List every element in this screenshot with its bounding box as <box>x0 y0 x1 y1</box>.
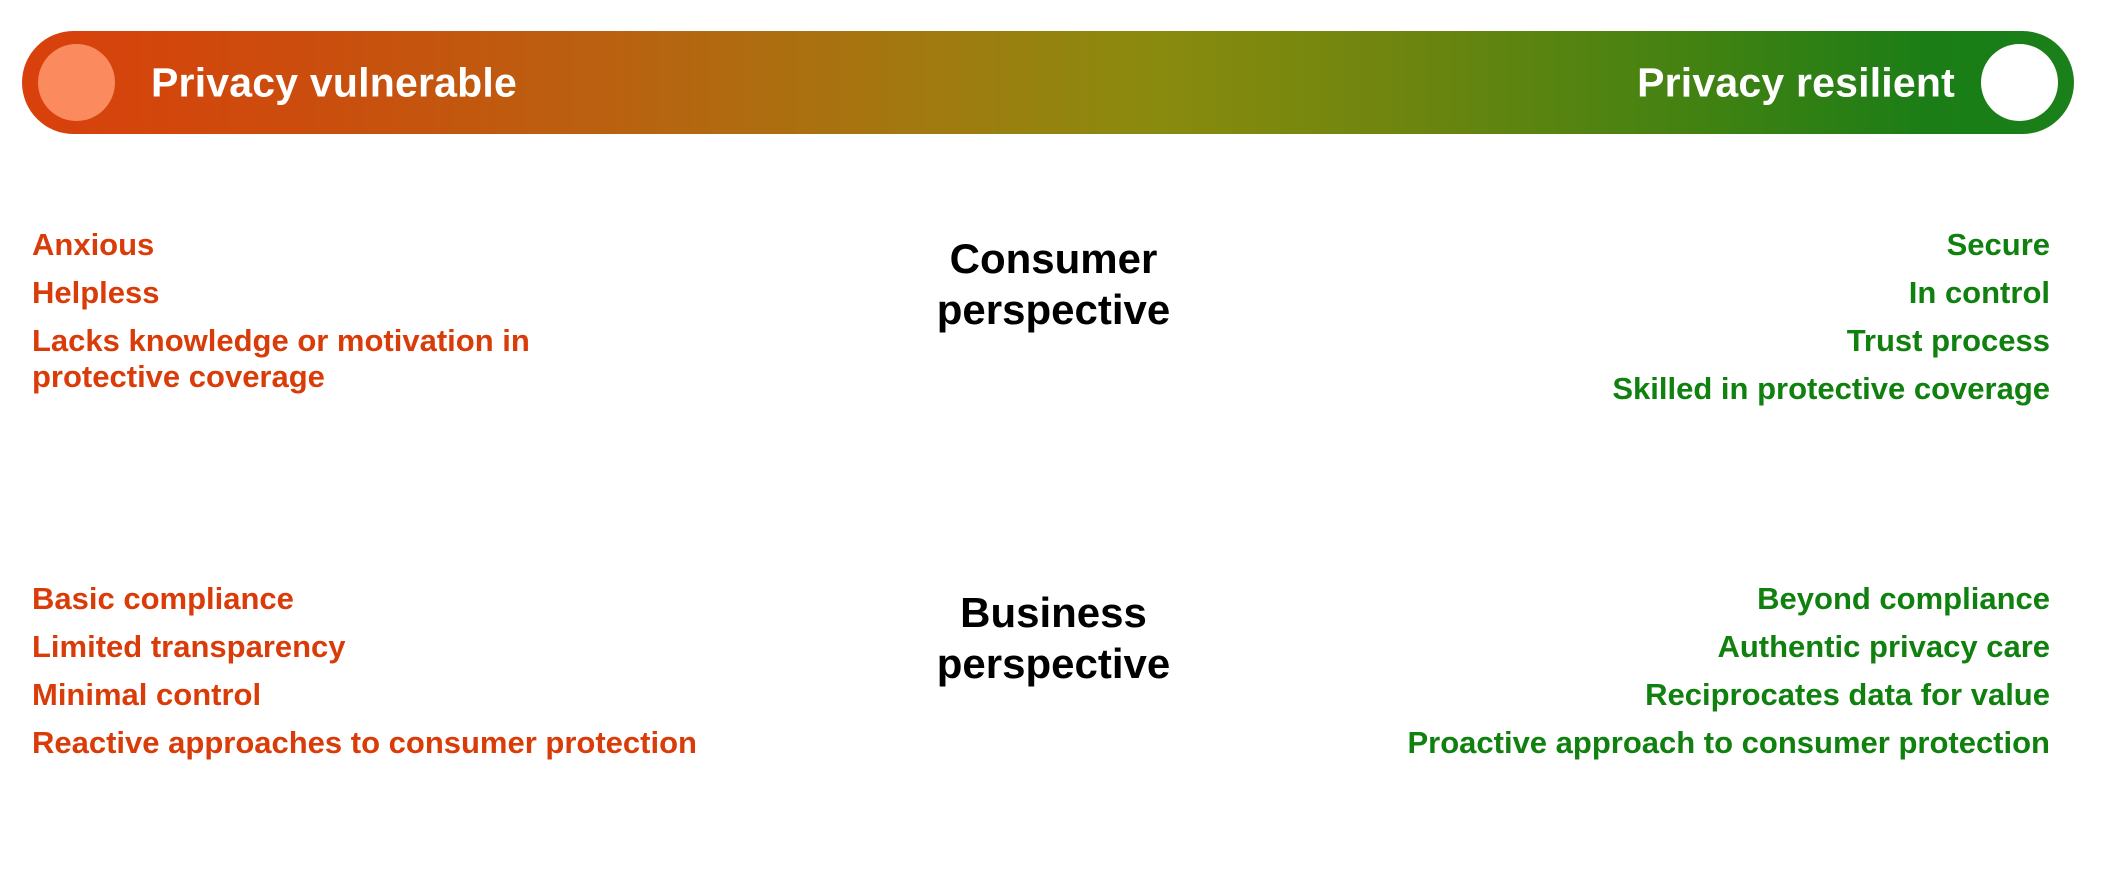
spectrum-label-resilient: Privacy resilient <box>1637 62 1955 103</box>
business-resilient-traits: Beyond compliance Authentic privacy care… <box>1190 592 2050 822</box>
spectrum-knob-vulnerable-icon[interactable] <box>38 44 115 121</box>
consumer-vulnerable-traits: Anxious Helpless Lacks knowledge or moti… <box>32 238 892 468</box>
trait-item: In control <box>1909 275 2050 311</box>
spectrum-knob-resilient-icon[interactable] <box>1981 44 2058 121</box>
consumer-perspective-section: Anxious Helpless Lacks knowledge or moti… <box>0 238 2107 468</box>
spectrum-label-vulnerable: Privacy vulnerable <box>151 62 517 103</box>
trait-item: Skilled in protective coverage <box>1612 371 2050 407</box>
trait-item: Proactive approach to consumer protectio… <box>1407 725 2050 761</box>
trait-item: Reciprocates data for value <box>1645 677 2050 713</box>
privacy-spectrum-bar: Privacy vulnerable Privacy resilient <box>22 31 2074 134</box>
business-vulnerable-traits: Basic compliance Limited transparency Mi… <box>32 592 892 822</box>
trait-item: Minimal control <box>32 677 261 713</box>
trait-item: Reactive approaches to consumer protecti… <box>32 725 697 761</box>
trait-item: Secure <box>1947 227 2050 263</box>
trait-item: Helpless <box>32 275 160 311</box>
trait-item: Trust process <box>1847 323 2050 359</box>
consumer-resilient-traits: Secure In control Trust process Skilled … <box>1190 238 2050 468</box>
trait-item: Limited transparency <box>32 629 346 665</box>
trait-item: Anxious <box>32 227 154 263</box>
business-perspective-section: Basic compliance Limited transparency Mi… <box>0 592 2107 822</box>
trait-item: Beyond compliance <box>1757 581 2050 617</box>
trait-item: Lacks knowledge or motivation in protect… <box>32 323 672 395</box>
trait-item: Authentic privacy care <box>1717 629 2050 665</box>
trait-item: Basic compliance <box>32 581 294 617</box>
